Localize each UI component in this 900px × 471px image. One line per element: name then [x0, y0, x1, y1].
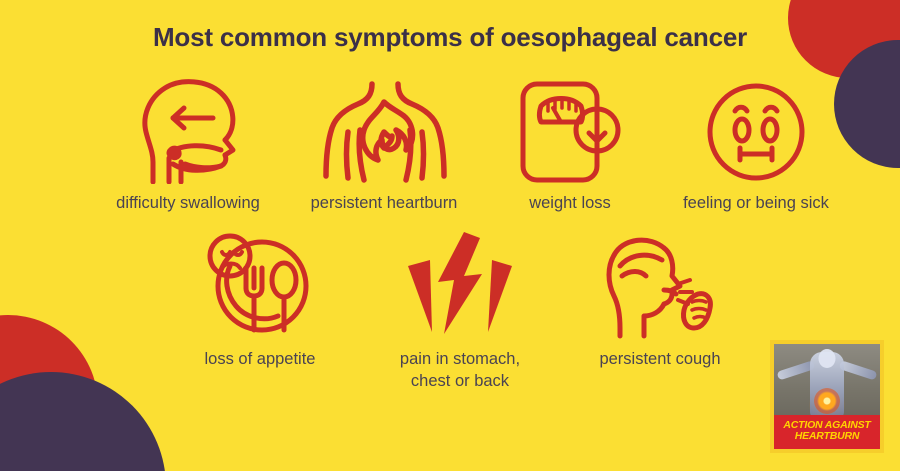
- symptom-label: persistent cough: [599, 348, 720, 370]
- symptom-loss-of-appetite: loss of appetite: [160, 228, 360, 370]
- symptom-weight-loss: weight loss: [482, 76, 658, 214]
- torso-flame-heartburn-icon: [320, 76, 448, 184]
- symptom-feeling-or-being-sick: feeling or being sick: [658, 76, 854, 214]
- symptom-row-2: loss of appetite pain in stomach, chest …: [150, 228, 770, 393]
- page-title: Most common symptoms of oesophageal canc…: [0, 22, 900, 53]
- weighing-scale-down-arrow-icon: [517, 76, 623, 184]
- symptom-label: loss of appetite: [205, 348, 316, 370]
- symptom-label: weight loss: [529, 192, 611, 214]
- logo-banner: ACTION AGAINST HEARTBURN: [774, 415, 880, 450]
- logo-banner-line-2: HEARTBURN: [774, 431, 880, 443]
- symptom-label: persistent heartburn: [311, 192, 458, 214]
- symptom-pain-stomach-chest-back: pain in stomach, chest or back: [360, 228, 560, 393]
- symptom-persistent-heartburn: persistent heartburn: [286, 76, 482, 214]
- plate-cutlery-sad-face-icon: [202, 228, 318, 340]
- symptom-label: feeling or being sick: [683, 192, 829, 214]
- action-against-heartburn-logo[interactable]: ACTION AGAINST HEARTBURN: [770, 340, 884, 453]
- symptom-label: difficulty swallowing: [116, 192, 260, 214]
- xray-head-icon: [819, 349, 836, 368]
- decorative-circle-bottom-left-purple: [0, 372, 166, 471]
- logo-image: ACTION AGAINST HEARTBURN: [774, 344, 880, 449]
- head-swallowing-icon: [129, 76, 247, 184]
- sick-face-icon: [704, 76, 808, 184]
- heartburn-glow-icon: [814, 388, 840, 414]
- symptom-persistent-cough: persistent cough: [560, 228, 760, 370]
- head-coughing-fist-icon: [600, 228, 720, 340]
- lightning-bolts-pain-icon: [402, 228, 518, 340]
- symptom-difficulty-swallowing: difficulty swallowing: [90, 76, 286, 214]
- symptom-label: pain in stomach, chest or back: [400, 348, 520, 393]
- symptom-row-1: difficulty swallowing: [72, 76, 872, 214]
- infographic-poster: Most common symptoms of oesophageal canc…: [0, 0, 900, 471]
